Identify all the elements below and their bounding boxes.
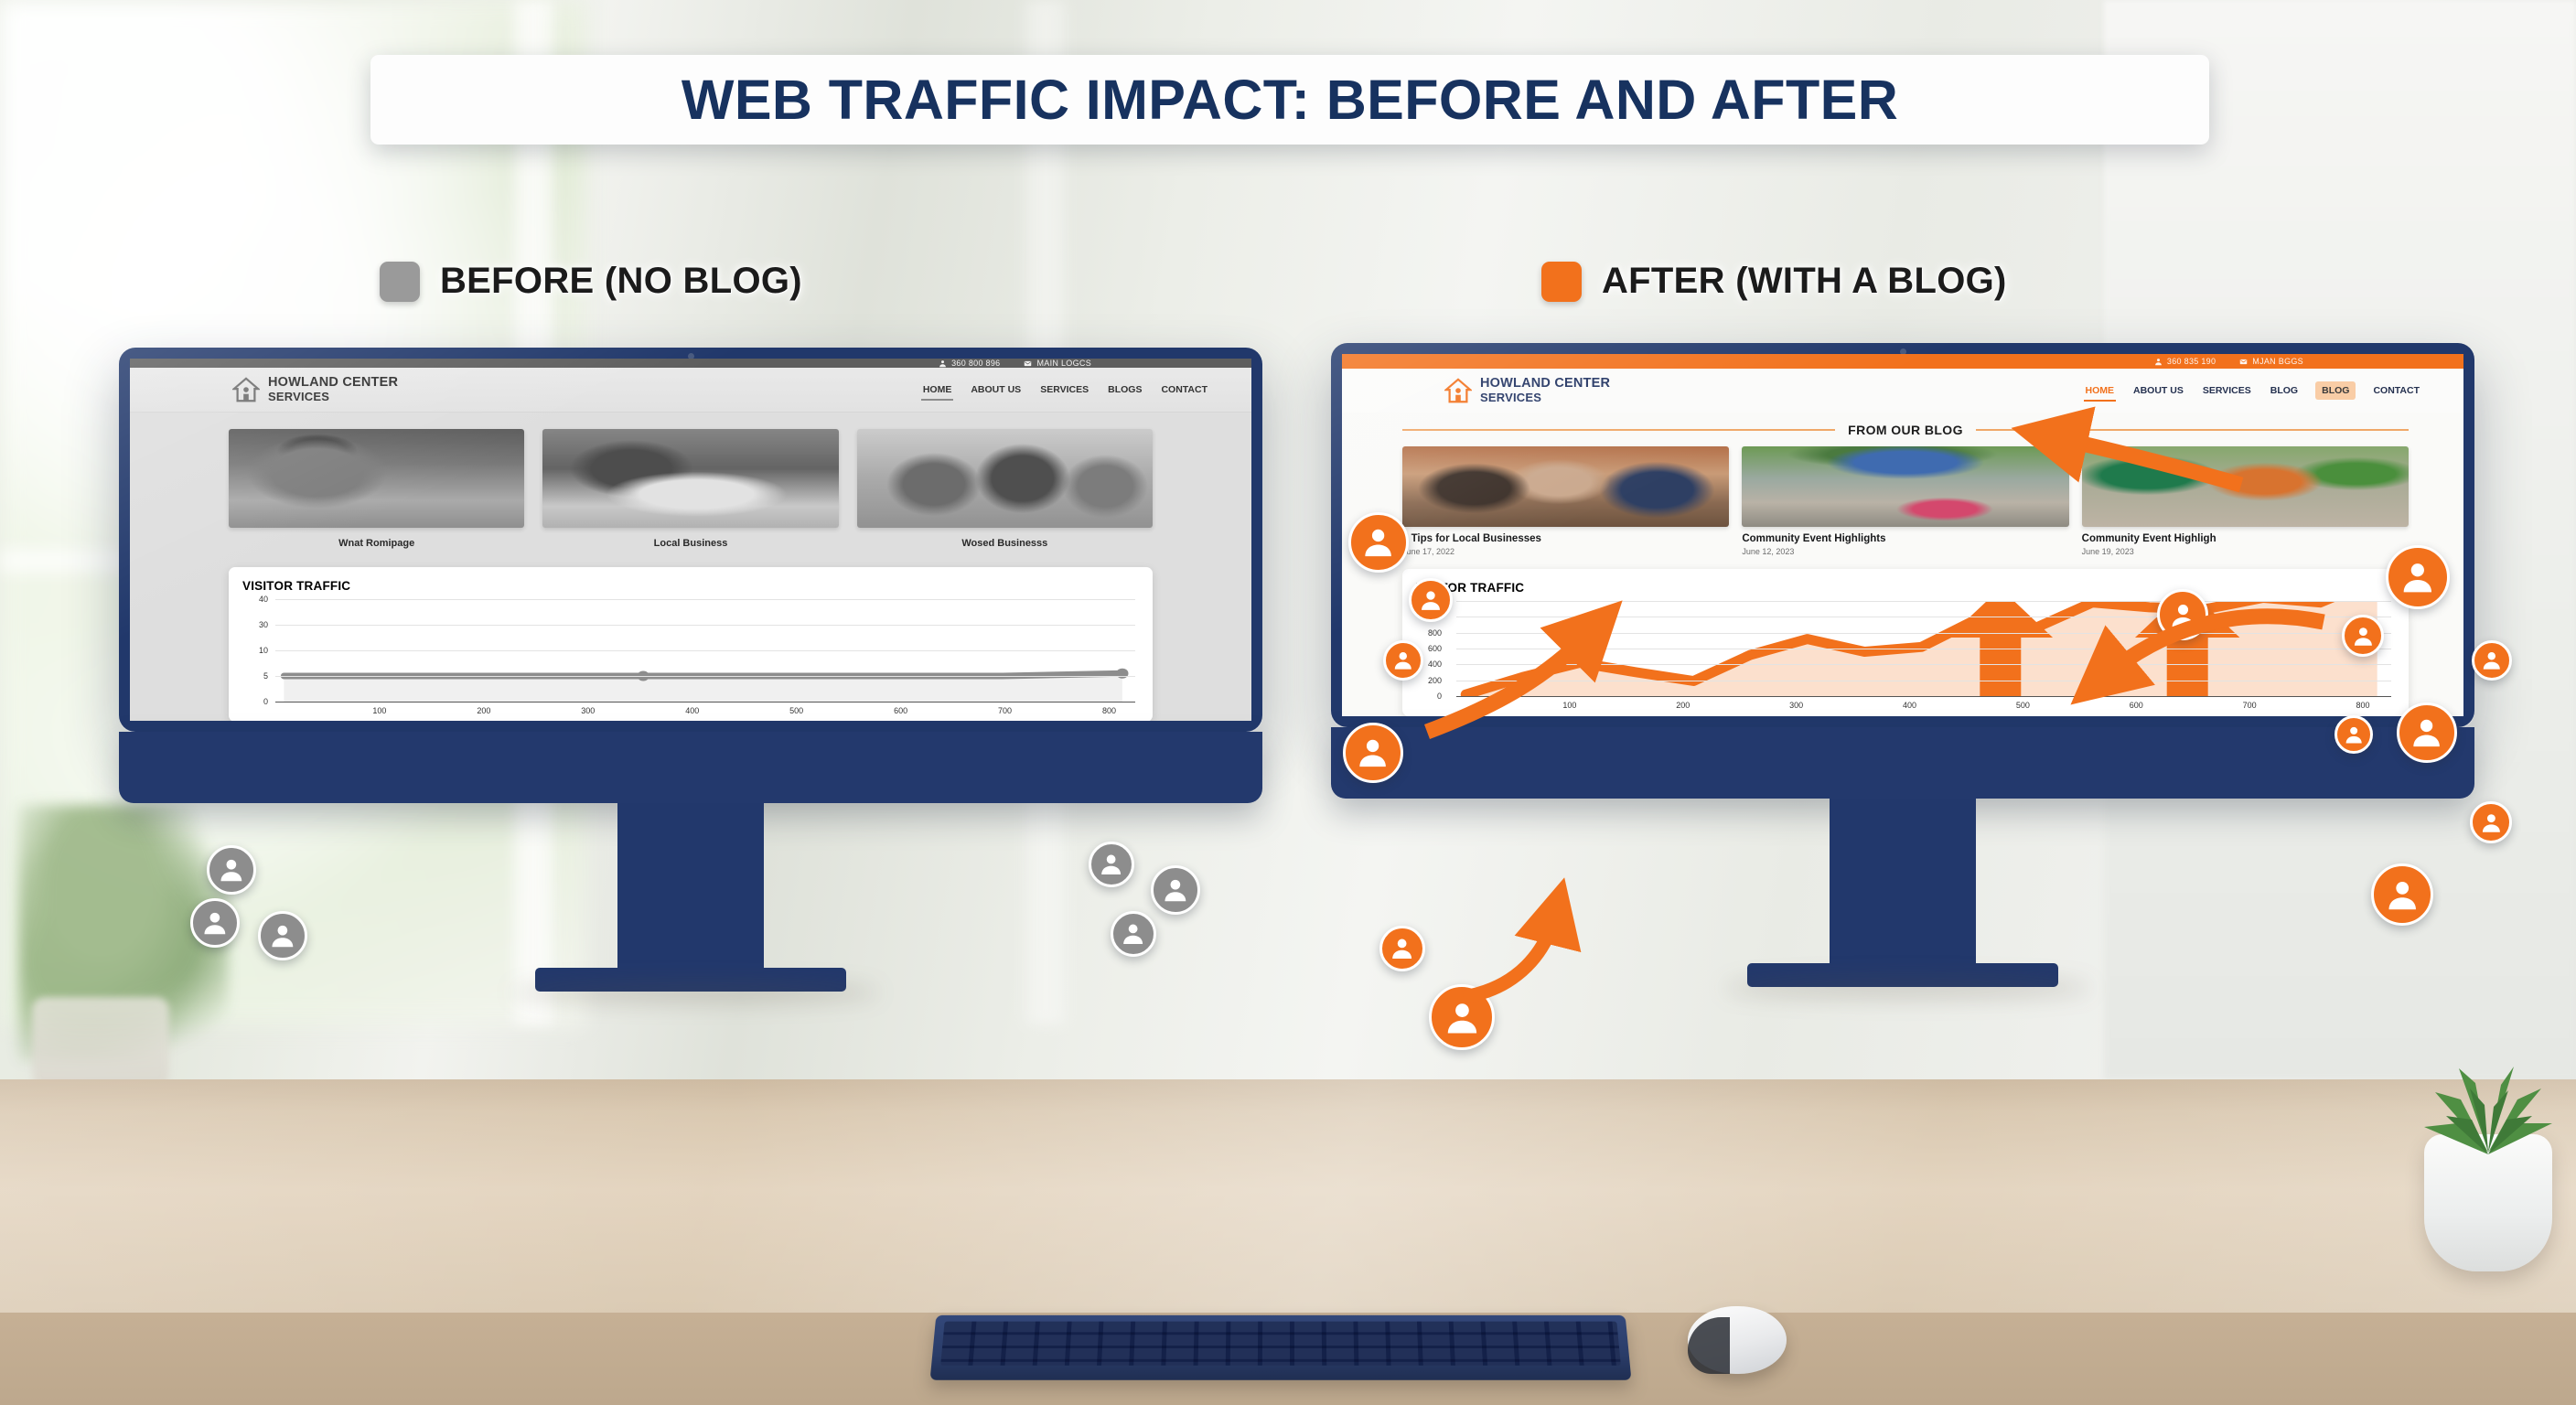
person-icon (2386, 545, 2450, 609)
blog-post[interactable]: 5 Tips for Local Businesses June 17, 202… (1402, 446, 1729, 556)
chart-x-tick: 800 (1102, 706, 1116, 715)
chart-gridlines (1456, 601, 2391, 696)
person-icon (258, 911, 307, 960)
chart-y-tick: 5 (263, 671, 268, 681)
chart-panel-before: VISITOR TRAFFIC 05103040 100200300400500… (229, 567, 1153, 721)
chart-y-tick: 0 (263, 697, 268, 706)
chart-gridline (275, 599, 1135, 600)
card-thumbnail (857, 429, 1153, 528)
post-date: June 19, 2023 (2082, 547, 2409, 556)
mail-icon (2239, 358, 2248, 366)
topbar-phone: 360 835 190 (2154, 357, 2216, 366)
chart-gridline (1456, 649, 2391, 649)
website-before: 360 800 896 MAIN LOGCS (130, 359, 1251, 721)
legend-swatch-after (1541, 262, 1582, 302)
person-icon (2342, 615, 2384, 657)
person-icon (1379, 926, 1425, 971)
monitor-neck-right (1830, 799, 1976, 972)
person-icon (2334, 715, 2373, 754)
screen-left: 360 800 896 MAIN LOGCS (130, 359, 1251, 721)
monitor-chin-right (1331, 727, 2474, 799)
nav-item-services[interactable]: SERVICES (1038, 381, 1090, 398)
chart-y-tick: 400 (1428, 660, 1442, 669)
chart-gridline (1456, 664, 2391, 665)
site-topbar: 360 800 896 MAIN LOGCS (130, 359, 1251, 368)
chart-x-axis: 100200300400500600700800 (275, 702, 1135, 721)
person-icon (190, 898, 240, 948)
potted-plant (2424, 1134, 2552, 1271)
blog-post-list: 5 Tips for Local Businesses June 17, 202… (1402, 446, 2409, 556)
legend-label-after: AFTER (WITH A BLOG) (1602, 261, 2007, 302)
nav-item-contact[interactable]: CONTACT (2371, 382, 2421, 399)
person-icon (1409, 578, 1453, 622)
mouse[interactable] (1688, 1306, 1787, 1374)
post-title: Community Event Highligh (2082, 533, 2409, 544)
chart-panel-after: VISITOR TRAFFIC 020040060080010001200 10… (1402, 569, 2409, 716)
person-icon (1151, 865, 1200, 915)
person-icon (1348, 512, 1409, 573)
chart-y-tick: 200 (1428, 676, 1442, 685)
feature-cards: Wnat Romipage Local Business Wosed Busin… (229, 429, 1153, 549)
brand-line-2: SERVICES (268, 391, 398, 403)
chart-gridline (1456, 633, 2391, 634)
person-icon (1383, 640, 1423, 681)
post-date: June 12, 2023 (1742, 547, 2068, 556)
feature-card[interactable]: Wosed Businesss (857, 429, 1153, 549)
brand-line-1: HOWLAND CENTER (1480, 377, 1610, 391)
chart-gridlines (275, 599, 1135, 702)
plant-leaves-icon (2406, 1032, 2571, 1160)
topbar-phone-text: 360 800 896 (951, 359, 1000, 368)
nav-item-services[interactable]: SERVICES (2201, 382, 2253, 399)
chart-marker (1116, 669, 1128, 679)
post-title: Community Event Highlights (1742, 533, 2068, 544)
legend-after: AFTER (WITH A BLOG) (1541, 261, 2007, 302)
nav-item-about-us[interactable]: ABOUT US (969, 381, 1023, 398)
site-topbar: 360 835 190 MJAN BGGS (1342, 354, 2463, 369)
person-icon (1343, 723, 1403, 783)
monitor-chin-left (119, 732, 1262, 803)
nav-item-blog-highlighted[interactable]: BLOG (2315, 381, 2356, 400)
screen-right: 360 835 190 MJAN BGGS (1342, 354, 2463, 716)
chart-x-tick: 400 (685, 706, 699, 715)
nav-item-contact[interactable]: CONTACT (1159, 381, 1209, 398)
chart-x-tick: 400 (1903, 701, 1916, 710)
monitor-neck-left (617, 803, 764, 977)
keyboard[interactable] (930, 1315, 1632, 1380)
chart-x-axis: 100200300400500600700800 (1456, 696, 2391, 716)
person-icon (2157, 589, 2208, 640)
topbar-phone: 360 800 896 (939, 359, 1000, 368)
monitor-shadow-right (1724, 978, 2090, 998)
card-caption: Local Business (542, 538, 838, 549)
monitor-bezel-right: 360 835 190 MJAN BGGS (1331, 343, 2474, 727)
chart-gridline (1456, 617, 2391, 617)
chart-y-axis: 05103040 (242, 599, 274, 702)
user-icon (939, 359, 947, 368)
card-thumbnail (229, 429, 524, 528)
topbar-email: MJAN BGGS (2239, 357, 2303, 366)
site-navbar-left: HOWLAND CENTER SERVICES HOME ABOUT US SE… (130, 368, 1251, 413)
person-icon (1089, 842, 1134, 887)
monitor-shadow-left (512, 982, 878, 1003)
chart-x-tick: 100 (1562, 701, 1576, 710)
chart-x-tick: 100 (372, 706, 386, 715)
site-nav-left: HOME ABOUT US SERVICES BLOGS CONTACT (921, 381, 1209, 398)
legend-before: BEFORE (NO BLOG) (380, 261, 802, 302)
legend-swatch-before (380, 262, 420, 302)
blog-section-header: FROM OUR BLOG (1402, 423, 2409, 437)
chart-x-tick: 200 (477, 706, 490, 715)
chart-plot-before: 05103040 (242, 599, 1139, 702)
chart-y-tick: 40 (259, 595, 268, 604)
chart-x-tick: 700 (2243, 701, 2257, 710)
feature-card[interactable]: Local Business (542, 429, 838, 549)
chart-x-tick: 300 (1789, 701, 1803, 710)
chart-x-tick: 300 (581, 706, 595, 715)
monitor-bezel-left: 360 800 896 MAIN LOGCS (119, 348, 1262, 732)
chart-x-tick: 600 (894, 706, 907, 715)
site-body-left: Wnat Romipage Local Business Wosed Busin… (130, 413, 1251, 721)
brand-line-2: SERVICES (1480, 391, 1610, 404)
chart-x-tick: 800 (2356, 701, 2370, 710)
site-body-right: FROM OUR BLOG 5 Tips for Local Businesse… (1342, 413, 2463, 716)
person-icon (2470, 801, 2512, 843)
chart-plot-after: 020040060080010001200 (1416, 601, 2395, 696)
person-icon (2397, 702, 2457, 763)
topbar-email-text: MAIN LOGCS (1036, 359, 1091, 368)
website-after: 360 835 190 MJAN BGGS (1342, 354, 2463, 716)
feature-card[interactable]: Wnat Romipage (229, 429, 524, 549)
chart-title: VISITOR TRAFFIC (242, 579, 1139, 593)
post-thumbnail (1742, 446, 2068, 527)
nav-item-blog[interactable]: BLOG (2269, 382, 2300, 399)
blog-post[interactable]: Community Event Highlights June 12, 2023 (1742, 446, 2068, 556)
chart-y-tick: 800 (1428, 628, 1442, 638)
chart-gridline (275, 676, 1135, 677)
blog-post[interactable]: Community Event Highligh June 19, 2023 (2082, 446, 2409, 556)
chart-x-tick: 600 (2130, 701, 2143, 710)
page-title: WEB TRAFFIC IMPACT: BEFORE AND AFTER (682, 68, 1898, 132)
chart-y-tick: 10 (259, 646, 268, 655)
chart-gridline (1456, 681, 2391, 681)
person-icon (207, 845, 256, 895)
section-rule-left (1402, 429, 1835, 431)
desk-sheen (0, 1079, 2576, 1317)
person-icon (2472, 640, 2512, 681)
person-icon (2371, 863, 2433, 926)
topbar-email: MAIN LOGCS (1024, 359, 1091, 368)
house-icon (232, 376, 260, 403)
post-date: June 17, 2022 (1402, 547, 1729, 556)
chart-y-tick: 0 (1437, 692, 1442, 701)
card-caption: Wosed Businesss (857, 538, 1153, 549)
site-logo-right[interactable]: HOWLAND CENTER SERVICES (1444, 377, 1610, 404)
chart-y-tick: 30 (259, 620, 268, 629)
chart-x-tick: 200 (1676, 701, 1690, 710)
chart-title: VISITOR TRAFFIC (1416, 581, 2395, 595)
brand-line-1: HOWLAND CENTER (268, 376, 398, 391)
chart-gridline (275, 625, 1135, 626)
topbar-phone-text: 360 835 190 (2167, 357, 2216, 366)
nav-item-about-us[interactable]: ABOUT US (2131, 382, 2185, 399)
section-rule-right (1976, 429, 2409, 431)
chart-gridline (1456, 601, 2391, 602)
site-nav-right: HOME ABOUT US SERVICES BLOG BLOG CONTACT (2084, 381, 2422, 400)
post-title: 5 Tips for Local Businesses (1402, 533, 1729, 544)
site-logo-left[interactable]: HOWLAND CENTER SERVICES (232, 376, 398, 403)
person-icon (1429, 984, 1495, 1050)
post-thumbnail (1402, 446, 1729, 527)
mouse-base (1688, 1317, 1730, 1374)
chart-x-tick: 500 (789, 706, 803, 715)
nav-item-home[interactable]: HOME (2084, 382, 2117, 399)
chart-x-tick: 700 (998, 706, 1012, 715)
card-thumbnail (542, 429, 838, 528)
chart-y-tick: 600 (1428, 644, 1442, 653)
mail-icon (1024, 359, 1032, 368)
nav-item-blogs[interactable]: BLOGS (1106, 381, 1143, 398)
keyboard-keys (940, 1322, 1621, 1366)
nav-item-home[interactable]: HOME (921, 381, 954, 398)
title-banner: WEB TRAFFIC IMPACT: BEFORE AND AFTER (370, 55, 2209, 145)
section-title: FROM OUR BLOG (1848, 423, 1963, 437)
topbar-email-text: MJAN BGGS (2252, 357, 2303, 366)
card-caption: Wnat Romipage (229, 538, 524, 549)
person-icon (1111, 911, 1156, 957)
user-icon (2154, 358, 2163, 366)
post-thumbnail (2082, 446, 2409, 527)
legend-label-before: BEFORE (NO BLOG) (440, 261, 802, 302)
site-navbar-right: HOWLAND CENTER SERVICES HOME ABOUT US SE… (1342, 369, 2463, 413)
house-icon (1444, 377, 1472, 404)
chart-x-tick: 500 (2016, 701, 2030, 710)
chart-gridline (275, 650, 1135, 651)
